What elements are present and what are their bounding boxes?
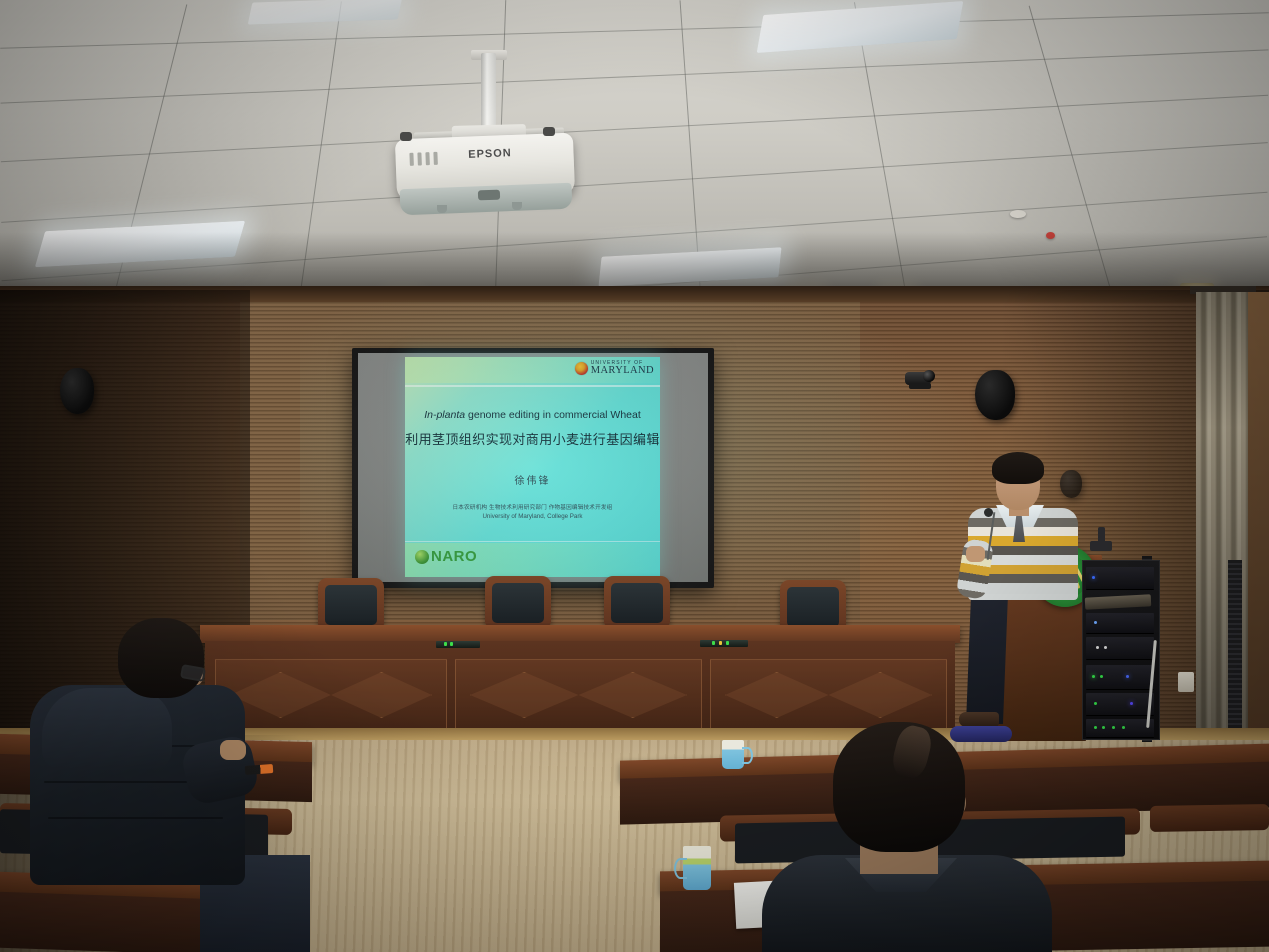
rack-led — [1130, 702, 1133, 705]
table-microphone-unit[interactable] — [436, 641, 480, 648]
rack-led — [1102, 726, 1105, 729]
wall-speaker — [60, 368, 94, 414]
wall-power-outlet[interactable] — [1178, 672, 1194, 692]
rack-led — [1096, 646, 1099, 649]
mic-led — [712, 641, 715, 645]
mic-led — [444, 642, 447, 646]
podium-microphone-head[interactable] — [984, 508, 993, 517]
wall-speaker — [975, 370, 1015, 420]
projector-foot — [512, 202, 522, 210]
radiator — [1228, 560, 1242, 732]
rack-led — [1126, 675, 1129, 678]
rack-unit[interactable] — [1086, 567, 1154, 590]
table-panel-carving — [215, 659, 447, 731]
projector-adjust-knob — [400, 132, 412, 141]
audience-left-hand — [220, 740, 246, 760]
mug-body — [722, 740, 744, 769]
chair-cushion — [492, 583, 544, 623]
pen-on-desk[interactable] — [245, 764, 274, 775]
head-table-front-panel — [205, 641, 955, 741]
rack-led — [1094, 621, 1097, 624]
rack-unit[interactable] — [1086, 637, 1154, 660]
mic-led — [450, 642, 453, 646]
podium-lamp — [1086, 525, 1116, 553]
table-panel-carving — [710, 659, 947, 731]
rack-led — [1122, 726, 1125, 729]
presenter-hair — [992, 452, 1044, 484]
rack-led — [1092, 576, 1095, 579]
camera-mount — [909, 383, 931, 389]
rack-led — [1104, 646, 1107, 649]
projector-foot — [437, 205, 447, 213]
screen-glare — [352, 348, 714, 588]
mug-body — [683, 846, 711, 890]
projector-lens — [478, 190, 500, 201]
projector-pole — [481, 53, 496, 131]
mic-led — [719, 641, 722, 645]
wall-speaker — [1060, 470, 1082, 498]
smoke-detector — [1010, 210, 1026, 218]
rack-unit[interactable] — [1086, 613, 1154, 634]
projector-adjust-knob — [543, 127, 555, 136]
table-diamond-inlay — [725, 672, 932, 718]
chair-cushion — [325, 585, 377, 625]
rack-unit[interactable] — [1086, 693, 1154, 716]
rack-unit[interactable] — [1086, 665, 1154, 690]
rack-led — [1092, 675, 1095, 678]
table-diamond-inlay — [470, 672, 687, 718]
mug-handle — [674, 858, 687, 879]
mug-handle — [742, 747, 753, 764]
chair-cushion — [611, 583, 663, 623]
camera-lens-icon — [923, 370, 935, 382]
rack-unit[interactable] — [1086, 719, 1154, 738]
audience-bench[interactable] — [1150, 804, 1269, 832]
table-panel-carving — [455, 659, 702, 731]
presenter-hand — [966, 546, 985, 562]
audience-left-hood — [42, 688, 172, 770]
chair-cushion — [787, 587, 839, 627]
presenter-legs — [966, 594, 1008, 724]
mic-led — [726, 641, 729, 645]
rack-led — [1112, 726, 1115, 729]
table-microphone-unit[interactable] — [700, 640, 748, 647]
table-diamond-inlay — [230, 672, 432, 718]
rack-led — [1094, 702, 1097, 705]
rack-led — [1100, 675, 1103, 678]
presenter-shoe — [959, 712, 999, 727]
wall-camera — [905, 368, 939, 386]
rack-led — [1094, 726, 1097, 729]
lecture-hall-photo: EPSON UNIVERSITY OF MARYLAND — [0, 0, 1269, 952]
audience-left-head — [118, 618, 204, 698]
bag-on-floor — [950, 726, 1012, 742]
